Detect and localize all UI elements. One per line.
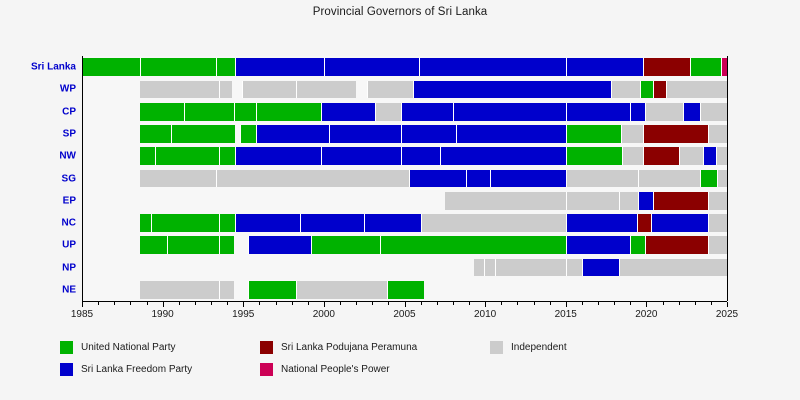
chart-title: Provincial Governors of Sri Lanka xyxy=(0,6,800,18)
timeline-segment xyxy=(484,259,495,277)
timeline-segment xyxy=(717,170,727,188)
y-axis-label-wp: WP xyxy=(60,84,76,95)
x-axis-minor-tick xyxy=(114,302,115,305)
x-axis-minor-tick xyxy=(598,302,599,305)
x-axis-tick xyxy=(324,302,325,307)
timeline-segment xyxy=(638,170,699,188)
legend-item[interactable]: National People's Power xyxy=(260,362,390,376)
x-axis-minor-tick xyxy=(211,302,212,305)
timeline-segment xyxy=(637,214,652,232)
x-axis-minor-tick xyxy=(372,302,373,305)
timeline-segment xyxy=(219,147,235,165)
legend-label: Sri Lanka Freedom Party xyxy=(81,364,192,375)
y-axis-label-np: NP xyxy=(62,262,76,273)
x-axis-tick-label: 1990 xyxy=(152,309,174,320)
y-axis-label-ep: EP xyxy=(63,195,76,206)
x-axis-tick-label: 2025 xyxy=(716,309,738,320)
x-axis-minor-tick xyxy=(421,302,422,305)
timeline-segment xyxy=(679,147,703,165)
timeline-segment xyxy=(466,170,490,188)
plot-area xyxy=(82,56,727,301)
y-axis-line-right xyxy=(727,56,728,301)
legend-label: National People's Power xyxy=(281,364,390,375)
legend-label: Sri Lanka Podujana Peramuna xyxy=(281,342,417,353)
legend-item[interactable]: United National Party xyxy=(60,340,176,354)
timeline-segment xyxy=(219,236,234,254)
y-axis-label-ne: NE xyxy=(62,284,76,295)
x-axis-minor-tick xyxy=(356,302,357,305)
x-axis-minor-tick xyxy=(437,302,438,305)
x-axis-tick xyxy=(163,302,164,307)
timeline-segment xyxy=(566,214,637,232)
legend-color-swatch xyxy=(60,363,73,376)
timeline-segment xyxy=(645,103,684,121)
timeline-segment xyxy=(380,236,565,254)
x-axis-tick xyxy=(566,302,567,307)
x-axis-tick-label: 1985 xyxy=(71,309,93,320)
legend-color-swatch xyxy=(60,341,73,354)
x-axis-minor-tick xyxy=(98,302,99,305)
timeline-segment xyxy=(619,259,727,277)
timeline-segment xyxy=(440,147,566,165)
timeline-segment xyxy=(256,103,321,121)
timeline-segment xyxy=(140,170,216,188)
timeline-segment xyxy=(240,125,256,143)
chart-legend: United National PartySri Lanka Freedom P… xyxy=(60,340,760,390)
timeline-segment xyxy=(445,192,566,210)
timeline-segment xyxy=(367,81,412,99)
timeline-segment xyxy=(375,103,401,121)
timeline-segment xyxy=(419,58,566,76)
timeline-chart: Provincial Governors of Sri Lanka Sri La… xyxy=(0,0,800,400)
timeline-segment xyxy=(456,125,566,143)
timeline-segment xyxy=(235,147,320,165)
timeline-segment xyxy=(622,147,643,165)
timeline-segment xyxy=(653,192,708,210)
legend-label: Independent xyxy=(511,342,567,353)
timeline-segment xyxy=(703,147,716,165)
timeline-segment xyxy=(140,281,219,299)
x-axis-tick-label: 2005 xyxy=(393,309,415,320)
x-axis-minor-tick xyxy=(534,302,535,305)
timeline-segment xyxy=(708,214,727,232)
timeline-segment xyxy=(643,58,690,76)
x-axis-tick-label: 1995 xyxy=(232,309,254,320)
timeline-segment xyxy=(643,125,708,143)
timeline-segment xyxy=(495,259,566,277)
timeline-segment xyxy=(638,192,653,210)
timeline-segment xyxy=(566,147,622,165)
timeline-segment xyxy=(401,147,440,165)
timeline-segment xyxy=(401,125,456,143)
timeline-segment xyxy=(321,147,402,165)
timeline-segment xyxy=(234,103,257,121)
timeline-segment xyxy=(566,58,643,76)
x-axis-minor-tick xyxy=(276,302,277,305)
timeline-segment xyxy=(167,236,219,254)
x-axis-minor-tick xyxy=(469,302,470,305)
timeline-segment xyxy=(140,236,167,254)
x-axis-minor-tick xyxy=(517,302,518,305)
timeline-segment xyxy=(82,58,140,76)
y-axis-label-sg: SG xyxy=(62,173,76,184)
x-axis-minor-tick xyxy=(711,302,712,305)
x-axis-minor-tick xyxy=(695,302,696,305)
timeline-segment xyxy=(324,58,419,76)
timeline-segment xyxy=(453,103,566,121)
timeline-segment xyxy=(321,103,376,121)
y-axis-label-nw: NW xyxy=(59,151,76,162)
timeline-segment xyxy=(235,58,324,76)
timeline-segment xyxy=(329,125,402,143)
timeline-segment xyxy=(490,170,566,188)
y-axis-label-up: UP xyxy=(62,240,76,251)
x-axis-minor-tick xyxy=(308,302,309,305)
timeline-segment xyxy=(387,281,424,299)
timeline-segment xyxy=(566,125,621,143)
timeline-segment xyxy=(248,236,311,254)
legend-item[interactable]: Sri Lanka Freedom Party xyxy=(60,362,192,376)
timeline-segment xyxy=(216,170,410,188)
timeline-segment xyxy=(140,58,216,76)
timeline-segment xyxy=(219,81,232,99)
x-axis-minor-tick xyxy=(259,302,260,305)
timeline-segment xyxy=(708,125,727,143)
timeline-segment xyxy=(619,192,638,210)
timeline-segment xyxy=(216,58,235,76)
x-axis-minor-tick xyxy=(179,302,180,305)
timeline-segment xyxy=(566,236,631,254)
timeline-segment xyxy=(219,214,235,232)
y-axis-label-cp: CP xyxy=(62,106,76,117)
x-axis-minor-tick xyxy=(501,302,502,305)
x-axis-tick-label: 2015 xyxy=(555,309,577,320)
timeline-segment xyxy=(630,236,645,254)
legend-label: United National Party xyxy=(81,342,176,353)
timeline-segment xyxy=(708,236,727,254)
timeline-segment xyxy=(140,103,184,121)
x-axis-tick-label: 2000 xyxy=(313,309,335,320)
timeline-segment xyxy=(311,236,380,254)
x-axis-minor-tick xyxy=(130,302,131,305)
timeline-segment xyxy=(708,192,727,210)
timeline-segment xyxy=(151,214,219,232)
timeline-segment xyxy=(640,81,653,99)
timeline-segment xyxy=(643,147,678,165)
x-axis-tick xyxy=(485,302,486,307)
legend-color-swatch xyxy=(490,341,503,354)
x-axis-minor-tick xyxy=(679,302,680,305)
x-axis-minor-tick xyxy=(292,302,293,305)
legend-color-swatch xyxy=(260,341,273,354)
timeline-segment xyxy=(413,81,611,99)
timeline-segment xyxy=(140,147,155,165)
x-axis-minor-tick xyxy=(147,302,148,305)
timeline-segment xyxy=(690,58,721,76)
x-axis-minor-tick xyxy=(453,302,454,305)
x-axis-minor-tick xyxy=(227,302,228,305)
timeline-segment xyxy=(683,103,699,121)
x-axis-tick xyxy=(243,302,244,307)
x-axis-minor-tick xyxy=(582,302,583,305)
timeline-segment xyxy=(653,81,666,99)
timeline-segment xyxy=(155,147,220,165)
timeline-segment xyxy=(566,192,619,210)
timeline-segment xyxy=(651,214,707,232)
timeline-segment xyxy=(566,170,639,188)
timeline-segment xyxy=(171,125,236,143)
timeline-segment xyxy=(421,214,566,232)
x-axis-minor-tick xyxy=(550,302,551,305)
y-axis-line xyxy=(82,56,83,301)
timeline-segment xyxy=(700,103,727,121)
timeline-segment xyxy=(235,214,300,232)
timeline-segment xyxy=(566,259,582,277)
legend-item[interactable]: Independent xyxy=(490,340,567,354)
timeline-segment xyxy=(364,214,420,232)
x-axis-minor-tick xyxy=(195,302,196,305)
timeline-segment xyxy=(621,125,644,143)
timeline-segment xyxy=(296,281,386,299)
timeline-segment xyxy=(666,81,727,99)
y-axis-label-sp: SP xyxy=(63,128,76,139)
timeline-segment xyxy=(256,125,329,143)
timeline-segment xyxy=(219,281,234,299)
timeline-segment xyxy=(296,81,356,99)
timeline-segment xyxy=(140,81,219,99)
x-axis-minor-tick xyxy=(630,302,631,305)
y-axis-label-nc: NC xyxy=(62,218,76,229)
x-axis-tick xyxy=(405,302,406,307)
timeline-segment xyxy=(140,214,151,232)
timeline-segment xyxy=(140,125,171,143)
x-axis-minor-tick xyxy=(388,302,389,305)
x-axis-minor-tick xyxy=(663,302,664,305)
x-axis-tick-label: 2020 xyxy=(635,309,657,320)
timeline-segment xyxy=(474,259,484,277)
x-axis-tick-label: 2010 xyxy=(474,309,496,320)
x-axis-minor-tick xyxy=(340,302,341,305)
timeline-segment xyxy=(401,103,453,121)
x-axis-tick xyxy=(646,302,647,307)
timeline-segment xyxy=(700,170,718,188)
timeline-segment xyxy=(630,103,645,121)
timeline-segment xyxy=(242,81,297,99)
timeline-segment xyxy=(184,103,234,121)
x-axis-tick xyxy=(727,302,728,307)
x-axis-tick xyxy=(82,302,83,307)
x-axis-minor-tick xyxy=(614,302,615,305)
timeline-segment xyxy=(611,81,640,99)
timeline-segment xyxy=(248,281,296,299)
timeline-segment xyxy=(566,103,631,121)
timeline-segment xyxy=(300,214,365,232)
timeline-segment xyxy=(645,236,708,254)
y-axis-label-sri-lanka: Sri Lanka xyxy=(31,62,76,73)
timeline-segment xyxy=(716,147,727,165)
timeline-segment xyxy=(582,259,619,277)
legend-item[interactable]: Sri Lanka Podujana Peramuna xyxy=(260,340,417,354)
timeline-segment xyxy=(409,170,465,188)
legend-color-swatch xyxy=(260,363,273,376)
